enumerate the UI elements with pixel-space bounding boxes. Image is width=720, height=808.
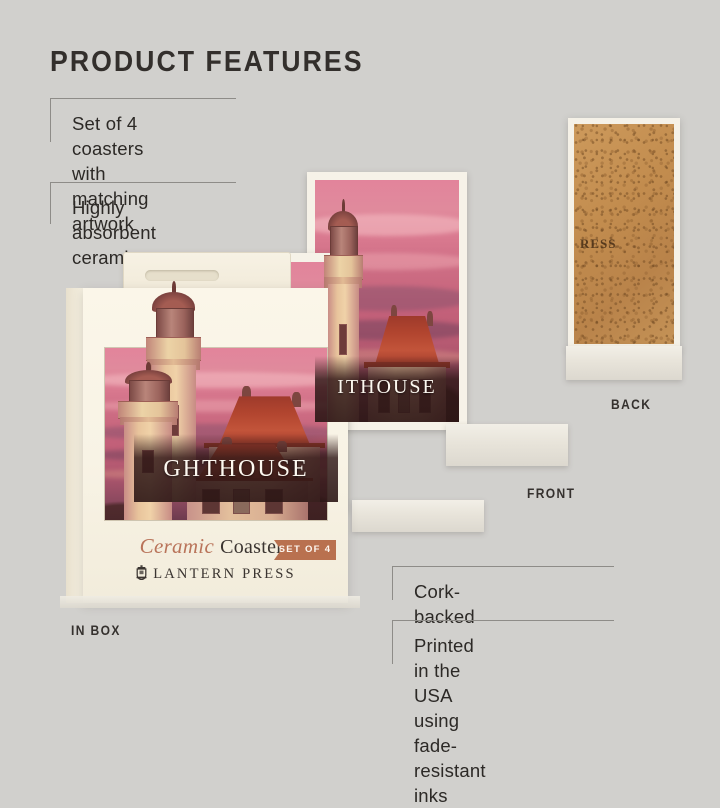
infographic-canvas: PRODUCT FEATURES Set of 4 coasters with …	[0, 0, 720, 720]
caption-in-box: IN BOX	[71, 622, 121, 638]
feature-rule-left	[50, 182, 51, 224]
coaster-stand-middle	[446, 424, 568, 466]
coaster-stand-front	[352, 500, 484, 532]
feature-rule-left	[392, 566, 393, 600]
feature-rule-top	[392, 620, 614, 621]
cork-brand-text: RESS	[580, 236, 617, 252]
set-of-4-badge: SET OF 4	[274, 540, 336, 560]
lighthouse-window	[339, 324, 347, 355]
feature-rule-top	[50, 98, 236, 99]
box-brand-name: LANTERN PRESS	[83, 565, 348, 585]
coaster-art-face: ITHOUSE	[315, 180, 459, 422]
box-spine	[66, 288, 83, 603]
lighthouse-gallery	[146, 337, 201, 361]
product-title-script: Ceramic	[140, 534, 214, 558]
feature-rule-top	[50, 182, 236, 183]
page-title: PRODUCT FEATURES	[50, 46, 364, 79]
box-base-shadow	[60, 596, 360, 608]
coaster-stand-back	[566, 346, 682, 380]
lantern-icon	[135, 565, 148, 585]
hang-tab-slot	[145, 270, 219, 281]
chimney	[427, 311, 433, 326]
lighthouse-gallery	[324, 255, 363, 279]
coaster-middle-view: ITHOUSE	[307, 172, 467, 430]
lighthouse-gallery	[118, 401, 178, 419]
feature-text: Printed in the USA using fade-resistant …	[414, 633, 486, 808]
coaster-title-text: ITHOUSE	[315, 376, 459, 399]
feature-rule-left	[50, 98, 51, 142]
feature-text: Cork-backed	[414, 579, 475, 629]
brand-name-text: LANTERN PRESS	[153, 566, 296, 582]
feature-rule-left	[392, 620, 393, 664]
coaster-back-view: RESS	[568, 118, 680, 350]
caption-back: BACK	[611, 396, 651, 412]
chimney	[292, 392, 301, 407]
cork-backing-surface: RESS	[574, 124, 674, 344]
feature-rule-top	[392, 566, 614, 567]
coaster-title-text: GHTHOUSE	[134, 456, 338, 483]
caption-front: FRONT	[527, 485, 575, 501]
